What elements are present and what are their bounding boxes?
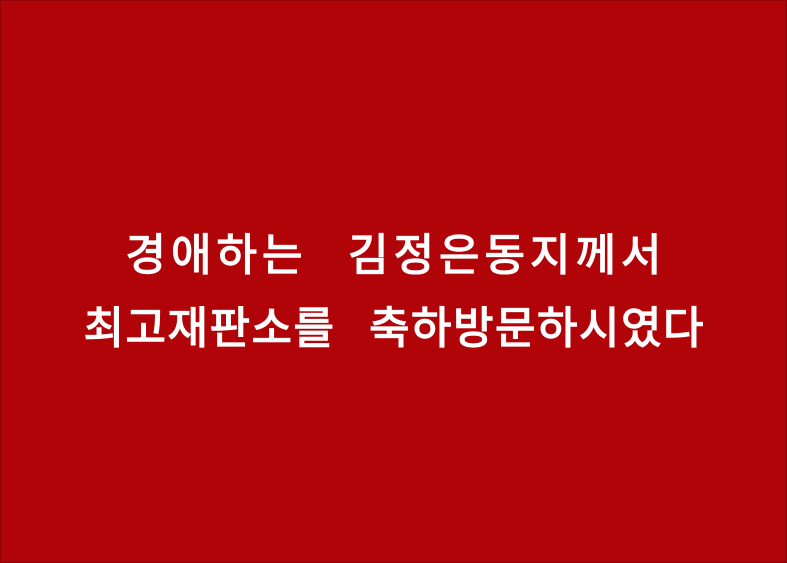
slogan-line-2: 최고재판소를 축하방문하시였다 (82, 292, 705, 365)
slogan-line-1: 경애하는 김정은동지께서 (121, 219, 667, 292)
slogan-text-block: 경애하는 김정은동지께서 최고재판소를 축하방문하시였다 (1, 219, 786, 365)
propaganda-banner: 경애하는 김정은동지께서 최고재판소를 축하방문하시였다 (0, 0, 787, 563)
